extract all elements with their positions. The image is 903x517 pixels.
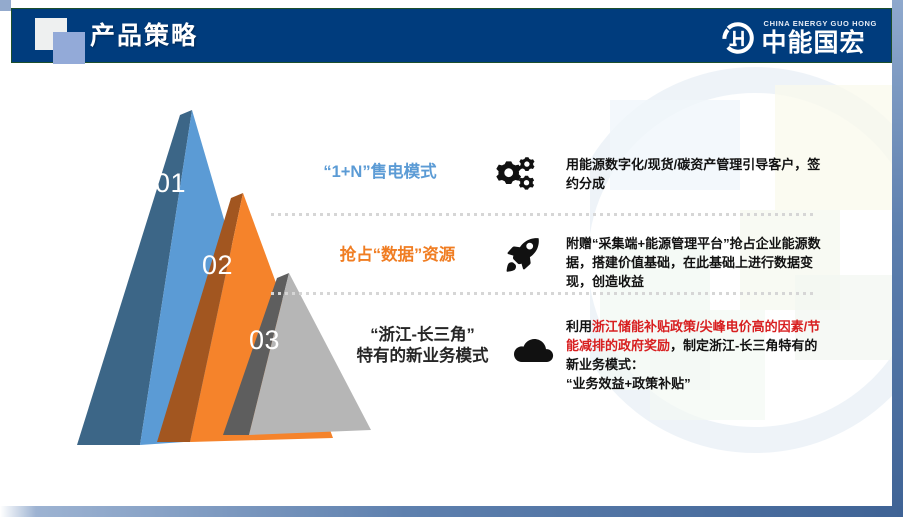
rocket-icon [505, 236, 541, 272]
logo-chinese-name: 中能国宏 [762, 30, 877, 56]
row-1-description: 用能源数字化/现货/碳资产管理引导客户，签约分成 [566, 155, 828, 193]
slide-content-area: 01 02 03 “1+N”售电模式 用能源数字化/现货/碳资产管理引导客户，签… [0, 0, 892, 506]
pyramid-number-03: 03 [249, 325, 280, 356]
slide-frame-right [892, 0, 903, 517]
row-3-title-line1: “浙江-长三角” [340, 325, 505, 346]
cloud-icon [513, 336, 555, 370]
row-1-title: “1+N”售电模式 [265, 162, 495, 183]
row-3-desc-part1: 利用 [566, 319, 592, 334]
frame-corner [0, 0, 11, 11]
slide-canvas: 01 02 03 “1+N”售电模式 用能源数字化/现货/碳资产管理引导客户，签… [0, 0, 903, 517]
pyramid-number-01: 01 [155, 168, 186, 199]
row-3-desc-part3: “业务效益+政策补贴” [566, 376, 691, 391]
slide-header-bar: 产品策略 CHINA ENERGY GUO HONG 中能国宏 [11, 8, 892, 63]
circular-energy-logo-icon [720, 20, 756, 56]
pyramid-number-02: 02 [202, 250, 233, 281]
blue-square-icon [53, 32, 85, 64]
logo-text-block: CHINA ENERGY GUO HONG 中能国宏 [762, 20, 877, 56]
row-separator-1 [271, 213, 817, 216]
row-3-description: 利用浙江储能补贴政策/尖峰电价高的因素/节能减排的政府奖励，制定浙江-长三角特有… [566, 317, 828, 393]
company-logo: CHINA ENERGY GUO HONG 中能国宏 [720, 19, 877, 57]
page-title: 产品策略 [90, 18, 198, 54]
logo-english-name: CHINA ENERGY GUO HONG [762, 20, 877, 28]
row-2-title: 抢占“数据”资源 [300, 245, 495, 266]
row-3-title-line2: 特有的新业务模式 [340, 346, 505, 367]
gears-icon [495, 152, 539, 196]
slide-frame-bottom [0, 506, 903, 517]
row-2-description: 附赠“采集端+能源管理平台”抢占企业能源数据，搭建价值基础，在此基础上进行数据变… [566, 234, 828, 291]
row-separator-2 [271, 292, 817, 295]
